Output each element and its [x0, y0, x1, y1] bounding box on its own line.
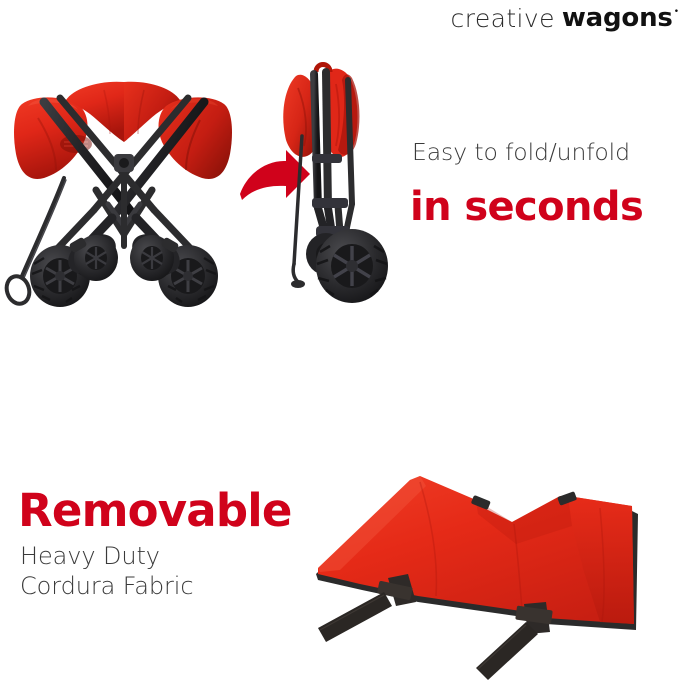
removable-headline: Removable: [18, 484, 292, 537]
frame-center-latch: [114, 154, 134, 172]
trademark-mark: •: [674, 7, 679, 17]
brand-word-wagons: wagons: [562, 3, 673, 33]
brand-logo: creative wagons •: [413, 1, 679, 35]
handle-foot: [291, 280, 305, 288]
fold-headline-line2: in seconds: [410, 184, 643, 230]
wheel-collapsed-front: [316, 229, 388, 303]
infographic-page: creative wagons •: [0, 0, 679, 680]
brand-word-creative: creative: [451, 4, 555, 33]
fold-headline-line1: Easy to fold/unfold: [412, 138, 630, 166]
removable-subline-1: Heavy Duty: [20, 542, 160, 570]
removable-subline-2: Cordura Fabric: [20, 572, 193, 600]
wagon-folded-image: [4, 58, 240, 308]
wagon-collapsed-image: [268, 58, 400, 308]
fabric-liner-image: [300, 452, 679, 680]
